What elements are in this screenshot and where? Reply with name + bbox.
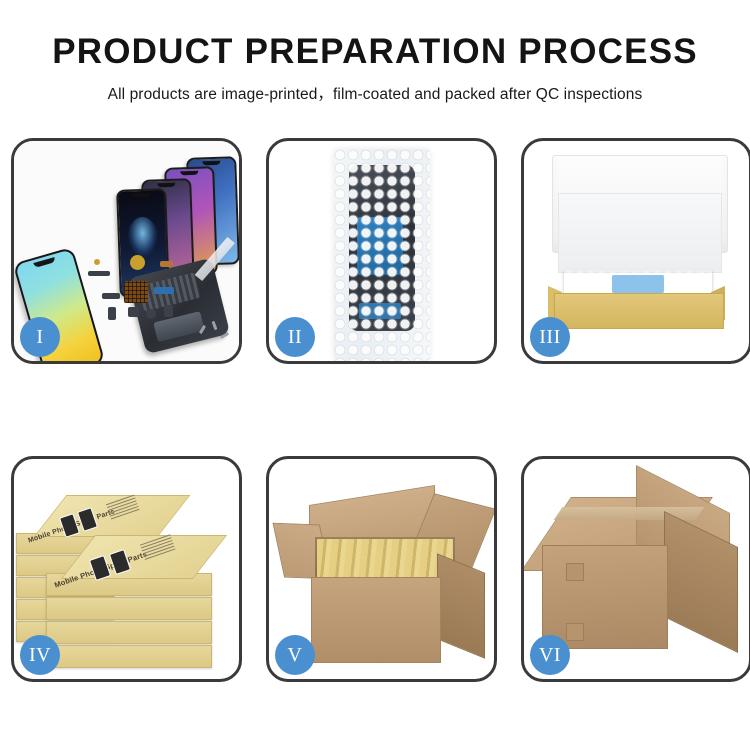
screw-icon bbox=[199, 325, 206, 334]
mailer-box-front bbox=[554, 293, 724, 329]
retail-box-edge bbox=[46, 645, 212, 668]
carton-flap-tab bbox=[566, 623, 584, 641]
carton-front-face bbox=[311, 577, 441, 663]
process-step-panel-3: III bbox=[521, 138, 750, 364]
speaker-coil-icon bbox=[130, 255, 145, 270]
vibrator-icon bbox=[146, 309, 156, 319]
process-step-panel-4: Mobile Phone Spare Parts Mobile Phone Sp… bbox=[11, 456, 242, 682]
process-steps-grid: I II III bbox=[11, 138, 739, 682]
step-badge-3: III bbox=[530, 317, 570, 357]
flex-cable-icon bbox=[88, 271, 110, 276]
step-badge-4: IV bbox=[20, 635, 60, 675]
packing-tape-strip bbox=[554, 507, 705, 520]
step-badge-2: II bbox=[275, 317, 315, 357]
notch-icon bbox=[157, 183, 175, 188]
bubble-wrap-bubbles bbox=[334, 149, 430, 361]
button-icon bbox=[108, 307, 116, 320]
screws-group bbox=[199, 321, 233, 347]
step-badge-5: V bbox=[275, 635, 315, 675]
bracket-icon bbox=[102, 293, 120, 299]
carton-flap-tab bbox=[566, 563, 584, 581]
notch-icon bbox=[202, 161, 220, 166]
spare-components-group bbox=[88, 249, 198, 341]
process-step-panel-6: VI bbox=[521, 456, 750, 682]
step-badge-1: I bbox=[20, 317, 60, 357]
step-badge-6: VI bbox=[530, 635, 570, 675]
process-step-panel-2: II bbox=[266, 138, 497, 364]
chip-grid-icon bbox=[124, 281, 148, 303]
screw-icon bbox=[94, 259, 100, 265]
retail-box-edge bbox=[46, 621, 212, 644]
page-title: PRODUCT PREPARATION PROCESS bbox=[0, 34, 750, 69]
screw-icon bbox=[212, 321, 218, 330]
camera-module-icon bbox=[128, 307, 139, 317]
process-step-panel-5: V bbox=[266, 456, 497, 682]
flex-cable-icon bbox=[154, 287, 174, 294]
page-subtitle: All products are image-printed，film-coat… bbox=[0, 82, 750, 104]
process-step-panel-1: I bbox=[11, 138, 242, 364]
notch-icon bbox=[132, 193, 150, 198]
page-header: PRODUCT PREPARATION PROCESS All products… bbox=[0, 0, 750, 104]
carton-right-face bbox=[437, 553, 485, 658]
mailer-box-interior bbox=[558, 193, 722, 273]
sim-tray-icon bbox=[164, 305, 173, 317]
notch-icon bbox=[180, 171, 198, 176]
screw-icon bbox=[220, 332, 229, 339]
connector-icon bbox=[160, 261, 173, 267]
retail-box-edge bbox=[46, 597, 212, 620]
sealed-carton-front-face bbox=[542, 545, 668, 649]
